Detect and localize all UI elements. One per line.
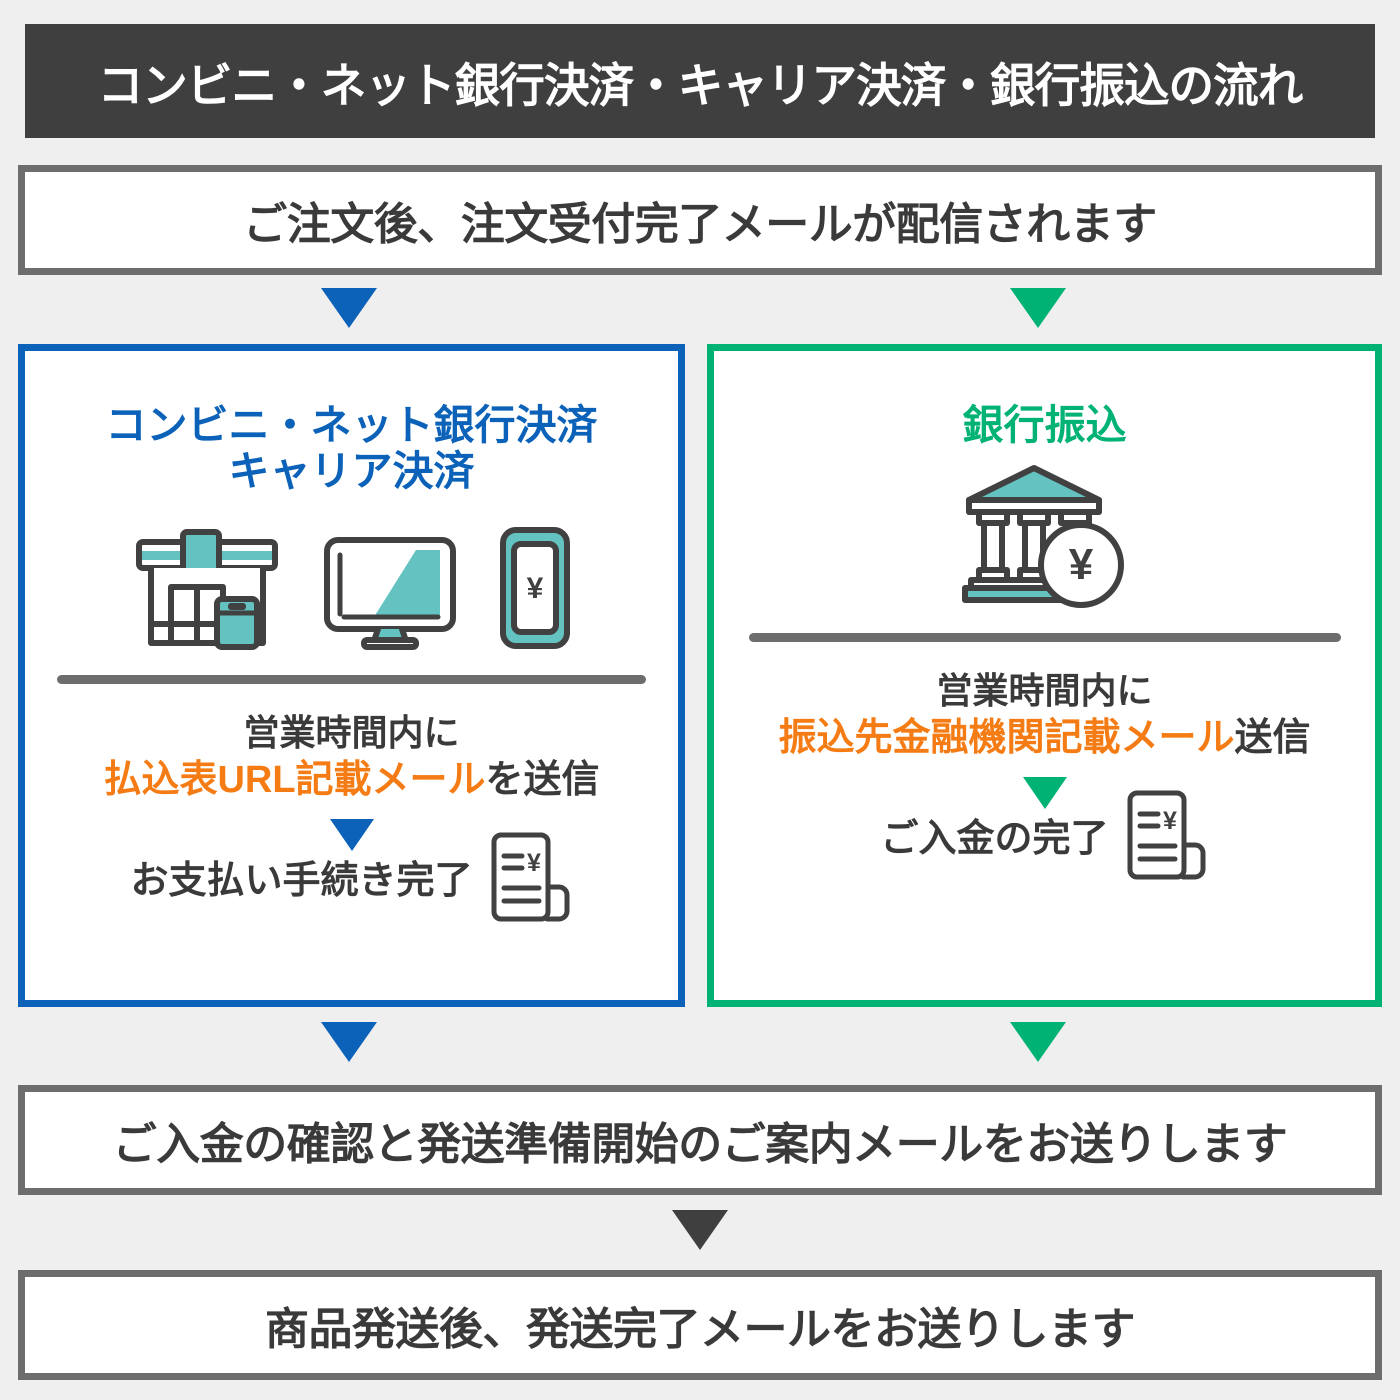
convenience-done-label: お支払い手続き完了: [130, 849, 472, 904]
arrow-down-from-conveni-icon: [321, 1022, 377, 1062]
receipt-yen-icon: ¥: [481, 829, 573, 925]
yen-symbol-phone: ¥: [526, 572, 543, 605]
arrow-down-bank-icon: [1023, 777, 1067, 809]
bank-icon-row: ¥: [714, 479, 1375, 609]
panel-bank-title-line1: 銀行振込: [963, 402, 1127, 448]
convenience-mail-highlight: 払込表URL記載メール: [103, 759, 485, 801]
smartphone-yen-icon: ¥: [498, 525, 572, 651]
panel-convenience-payment: コンビニ・ネット銀行決済 キャリア決済: [18, 344, 685, 1007]
bank-mail-highlight: 振込先金融機関記載メール: [778, 717, 1234, 759]
panel-convenience-divider: [57, 675, 646, 684]
step-shipping-complete-email: 商品発送後、発送完了メールをお送りします: [18, 1270, 1382, 1380]
step-payment-confirmed-email: ご入金の確認と発送準備開始のご案内メールをお送りします: [18, 1085, 1382, 1195]
diagram-header: コンビニ・ネット銀行決済・キャリア決済・銀行振込の流れ: [25, 24, 1375, 138]
panel-bank-divider: [749, 633, 1341, 642]
step-order-email: ご注文後、注文受付完了メールが配信されます: [18, 165, 1382, 275]
arrow-down-to-bank-icon: [1010, 288, 1066, 328]
step-order-email-label: ご注文後、注文受付完了メールが配信されます: [243, 188, 1157, 252]
convenience-mail-prefix: 営業時間内に: [25, 710, 678, 756]
arrow-down-to-shipped-icon: [672, 1210, 728, 1250]
arrow-down-to-conveni-icon: [321, 288, 377, 328]
bank-mail-text: 営業時間内に 振込先金融機関記載メール送信: [714, 668, 1375, 763]
step-shipping-complete-label: 商品発送後、発送完了メールをお送りします: [265, 1293, 1135, 1357]
bank-done-label: ご入金の完了: [880, 807, 1108, 862]
convenience-mail-suffix: を送信: [486, 759, 600, 801]
convenience-icon-row: ¥: [25, 521, 678, 651]
panel-bank-transfer: 銀行振込: [707, 344, 1382, 1007]
bank-mail-prefix: 営業時間内に: [714, 668, 1375, 714]
receipt-yen-icon: ¥: [1117, 787, 1209, 883]
arrow-down-convenience-icon: [330, 819, 374, 851]
bank-mail-suffix: 送信: [1235, 717, 1311, 759]
convenience-store-icon: [132, 525, 282, 651]
panel-convenience-title-line2: キャリア決済: [25, 449, 678, 495]
bank-building-yen-icon: ¥: [957, 459, 1133, 609]
desktop-monitor-icon: [322, 535, 458, 651]
step-payment-confirmed-label: ご入金の確認と発送準備開始のご案内メールをお送りします: [113, 1108, 1288, 1172]
diagram-title: コンビニ・ネット銀行決済・キャリア決済・銀行振込の流れ: [98, 47, 1303, 116]
panel-bank-title: 銀行振込: [714, 403, 1375, 449]
yen-symbol-bank: ¥: [1068, 540, 1093, 589]
convenience-mail-text: 営業時間内に 払込表URL記載メールを送信: [25, 710, 678, 805]
arrow-down-from-bank-icon: [1010, 1022, 1066, 1062]
panel-convenience-title: コンビニ・ネット銀行決済 キャリア決済: [25, 403, 678, 495]
panel-convenience-title-line1: コンビニ・ネット銀行決済: [106, 402, 598, 448]
yen-symbol-receipt-left: ¥: [527, 849, 541, 877]
yen-symbol-receipt-right: ¥: [1163, 807, 1177, 835]
flow-diagram: コンビニ・ネット銀行決済・キャリア決済・銀行振込の流れ ご注文後、注文受付完了メ…: [0, 0, 1400, 1400]
